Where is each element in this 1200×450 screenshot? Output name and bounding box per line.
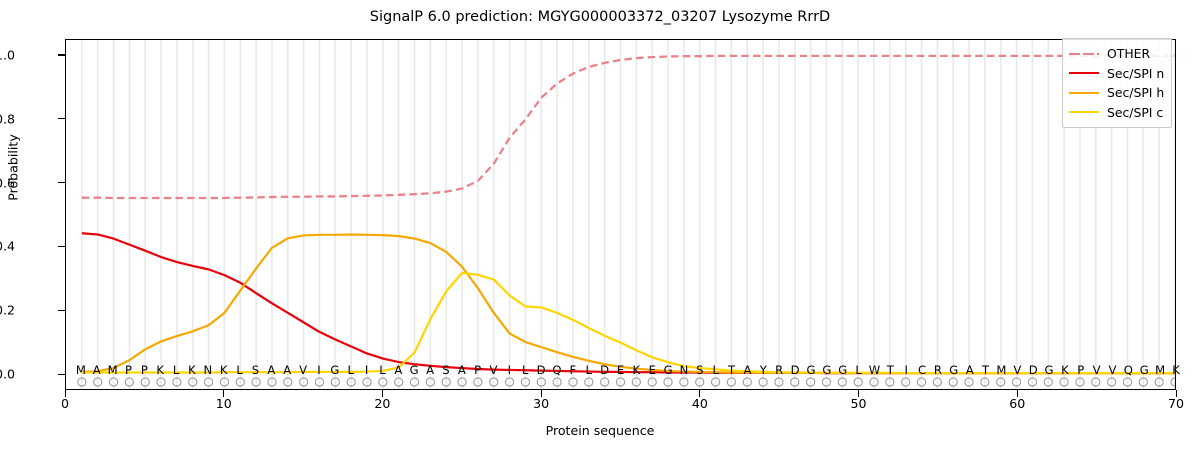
residue-marker xyxy=(743,378,751,386)
residue-marker xyxy=(252,378,260,386)
residue-letter: G xyxy=(838,363,847,377)
residue-letter: K xyxy=(633,363,641,377)
residue-letter: A xyxy=(426,363,434,377)
legend-item-other[interactable]: OTHER xyxy=(1069,44,1164,64)
residue-marker xyxy=(1012,378,1020,386)
residue-letter: A xyxy=(394,363,402,377)
residue-marker xyxy=(1171,378,1175,386)
residue-marker xyxy=(157,378,165,386)
legend-item-secspi-c[interactable]: Sec/SPI c xyxy=(1069,103,1164,123)
residue-marker xyxy=(711,378,719,386)
residue-marker xyxy=(395,378,403,386)
residue-letter: K xyxy=(1172,363,1180,377)
residue-marker xyxy=(807,378,815,386)
residue-marker xyxy=(220,378,228,386)
y-tick-mark xyxy=(58,246,65,247)
x-tick-label: 20 xyxy=(374,396,390,411)
residue-marker xyxy=(173,378,181,386)
residue-letter: T xyxy=(728,363,735,377)
x-tick-mark xyxy=(541,390,542,397)
y-tick-mark xyxy=(58,374,65,375)
x-tick-mark xyxy=(223,390,224,397)
residue-marker xyxy=(696,378,704,386)
residue-marker xyxy=(1155,378,1163,386)
y-tick-label: 0.0 xyxy=(0,367,15,382)
residue-letter: A xyxy=(283,363,291,377)
y-tick-label: 1.0 xyxy=(0,47,15,62)
residue-marker xyxy=(854,378,862,386)
residue-marker xyxy=(204,378,212,386)
residue-markers xyxy=(66,40,1175,389)
legend-swatch-secspi-c-icon xyxy=(1069,107,1099,118)
residue-marker xyxy=(917,378,925,386)
plot-area xyxy=(65,39,1176,390)
residue-marker xyxy=(981,378,989,386)
x-tick-label: 0 xyxy=(61,396,69,411)
residue-marker xyxy=(1139,378,1147,386)
y-tick-mark xyxy=(58,182,65,183)
legend-label: Sec/SPI c xyxy=(1107,105,1163,120)
residue-letter: S xyxy=(696,363,703,377)
residue-letter: Q xyxy=(1124,363,1133,377)
y-tick-label: 0.2 xyxy=(0,303,15,318)
residue-marker xyxy=(506,378,514,386)
residue-marker xyxy=(553,378,561,386)
residue-marker xyxy=(1076,378,1084,386)
x-tick-mark xyxy=(858,390,859,397)
legend-item-secspi-n[interactable]: Sec/SPI n xyxy=(1069,64,1164,84)
residue-marker xyxy=(94,378,102,386)
residue-marker xyxy=(997,378,1005,386)
residue-marker xyxy=(822,378,830,386)
residue-marker xyxy=(521,378,529,386)
residue-letter: M xyxy=(1155,363,1165,377)
residue-letter: L xyxy=(586,363,592,377)
residue-letter: D xyxy=(791,363,800,377)
residue-marker xyxy=(933,378,941,386)
residue-letter: G xyxy=(1045,363,1054,377)
residue-letter: G xyxy=(1140,363,1149,377)
residue-letter: P xyxy=(125,363,132,377)
residue-marker xyxy=(78,378,86,386)
residue-letter: E xyxy=(649,363,656,377)
residue-marker xyxy=(664,378,672,386)
residue-marker xyxy=(268,378,276,386)
residue-marker xyxy=(870,378,878,386)
residue-letter: A xyxy=(93,363,101,377)
x-tick-label: 60 xyxy=(1009,396,1025,411)
legend-swatch-other-icon xyxy=(1069,48,1099,59)
residue-marker xyxy=(347,378,355,386)
residue-letter: F xyxy=(570,363,577,377)
x-axis-label: Protein sequence xyxy=(0,423,1200,438)
y-tick-label: 0.8 xyxy=(0,111,15,126)
residue-marker xyxy=(426,378,434,386)
residue-letter: I xyxy=(317,363,320,377)
residue-marker xyxy=(965,378,973,386)
residue-letter: G xyxy=(410,363,419,377)
residue-letter: M xyxy=(996,363,1006,377)
residue-letter: V xyxy=(490,363,498,377)
residue-marker xyxy=(537,378,545,386)
residue-letter: P xyxy=(141,363,148,377)
y-tick-label: 0.6 xyxy=(0,175,15,190)
x-tick-mark xyxy=(65,390,66,397)
residue-letter: A xyxy=(267,363,275,377)
legend-swatch-secspi-h-icon xyxy=(1069,87,1099,98)
residue-marker xyxy=(569,378,577,386)
legend-label: OTHER xyxy=(1107,46,1150,61)
y-tick-mark xyxy=(58,310,65,311)
residue-letter: Q xyxy=(552,363,561,377)
residue-letter: V xyxy=(1013,363,1021,377)
residue-marker xyxy=(902,378,910,386)
residue-letter: R xyxy=(934,363,942,377)
residue-marker xyxy=(727,378,735,386)
residue-marker xyxy=(125,378,133,386)
x-tick-mark xyxy=(1017,390,1018,397)
residue-letter: I xyxy=(365,363,368,377)
residue-letter: Y xyxy=(760,363,767,377)
residue-letter: V xyxy=(299,363,307,377)
residue-marker xyxy=(284,378,292,386)
x-tick-label: 50 xyxy=(851,396,867,411)
residue-letter: L xyxy=(522,363,528,377)
residue-letter: A xyxy=(744,363,752,377)
x-tick-label: 10 xyxy=(216,396,232,411)
residue-letter: M xyxy=(76,363,86,377)
residue-marker xyxy=(189,378,197,386)
residue-letter: N xyxy=(680,363,689,377)
residue-marker xyxy=(331,378,339,386)
residue-marker xyxy=(759,378,767,386)
residue-marker xyxy=(1028,378,1036,386)
residue-marker xyxy=(1092,378,1100,386)
legend-swatch-secspi-n-icon xyxy=(1069,68,1099,79)
residue-letter: G xyxy=(949,363,958,377)
residue-marker xyxy=(601,378,609,386)
residue-letter: V xyxy=(1109,363,1117,377)
residue-letter: V xyxy=(1093,363,1101,377)
residue-letter: L xyxy=(855,363,861,377)
residue-marker xyxy=(632,378,640,386)
residue-letter: K xyxy=(220,363,228,377)
residue-marker xyxy=(410,378,418,386)
residue-marker xyxy=(109,378,117,386)
residue-letter: D xyxy=(537,363,546,377)
residue-marker xyxy=(141,378,149,386)
y-tick-mark xyxy=(58,118,65,119)
residue-marker xyxy=(236,378,244,386)
residue-letter: W xyxy=(869,363,880,377)
x-tick-mark xyxy=(1176,390,1177,397)
residue-marker xyxy=(791,378,799,386)
residue-marker xyxy=(1060,378,1068,386)
residue-letter: A xyxy=(458,363,466,377)
x-tick-label: 70 xyxy=(1168,396,1184,411)
x-tick-mark xyxy=(382,390,383,397)
residue-marker xyxy=(442,378,450,386)
chart-legend[interactable]: OTHER Sec/SPI n Sec/SPI h Sec/SPI c xyxy=(1062,38,1172,128)
residue-marker xyxy=(949,378,957,386)
y-tick-mark xyxy=(58,54,65,55)
residue-marker xyxy=(1123,378,1131,386)
residue-marker xyxy=(680,378,688,386)
residue-letter: P xyxy=(1077,363,1084,377)
residue-letter: G xyxy=(664,363,673,377)
residue-letter: D xyxy=(600,363,609,377)
residue-marker xyxy=(300,378,308,386)
y-axis-label: Probability xyxy=(6,68,21,268)
residue-letter: L xyxy=(347,363,353,377)
residue-marker xyxy=(458,378,466,386)
residue-letter: D xyxy=(1029,363,1038,377)
residue-letter: S xyxy=(252,363,259,377)
residue-letter: I xyxy=(508,363,511,377)
residue-letter: G xyxy=(822,363,831,377)
residue-letter: N xyxy=(203,363,212,377)
residue-marker xyxy=(585,378,593,386)
legend-item-secspi-h[interactable]: Sec/SPI h xyxy=(1069,83,1164,103)
residue-letter: P xyxy=(474,363,481,377)
residue-marker xyxy=(490,378,498,386)
residue-letter: K xyxy=(1061,363,1069,377)
residue-letter: S xyxy=(442,363,449,377)
signalp-prediction-figure: SignalP 6.0 prediction: MGYG000003372_03… xyxy=(0,0,1200,450)
residue-marker xyxy=(379,378,387,386)
y-tick-label: 0.4 xyxy=(0,239,15,254)
residue-marker xyxy=(1044,378,1052,386)
residue-marker xyxy=(315,378,323,386)
residue-marker xyxy=(648,378,656,386)
residue-letter: T xyxy=(887,363,894,377)
x-tick-label: 30 xyxy=(533,396,549,411)
residue-letter: G xyxy=(330,363,339,377)
residue-marker xyxy=(363,378,371,386)
legend-label: Sec/SPI h xyxy=(1107,85,1164,100)
residue-letter: I xyxy=(904,363,907,377)
residue-letter: A xyxy=(966,363,974,377)
residue-marker xyxy=(474,378,482,386)
x-tick-mark xyxy=(699,390,700,397)
residue-letter: G xyxy=(806,363,815,377)
residue-marker xyxy=(838,378,846,386)
residue-letter: L xyxy=(236,363,242,377)
residue-letter: E xyxy=(617,363,624,377)
residue-marker xyxy=(886,378,894,386)
x-tick-label: 40 xyxy=(692,396,708,411)
residue-letter: T xyxy=(982,363,989,377)
residue-letter: C xyxy=(918,363,926,377)
residue-letter: R xyxy=(775,363,783,377)
residue-letter: L xyxy=(379,363,385,377)
legend-label: Sec/SPI n xyxy=(1107,66,1164,81)
residue-letter: K xyxy=(156,363,164,377)
residue-letter: K xyxy=(188,363,196,377)
page-title: SignalP 6.0 prediction: MGYG000003372_03… xyxy=(0,9,1200,25)
residue-letter: L xyxy=(712,363,718,377)
residue-letter: L xyxy=(173,363,179,377)
residue-marker xyxy=(616,378,624,386)
residue-letter: M xyxy=(108,363,118,377)
residue-marker xyxy=(775,378,783,386)
residue-marker xyxy=(1108,378,1116,386)
